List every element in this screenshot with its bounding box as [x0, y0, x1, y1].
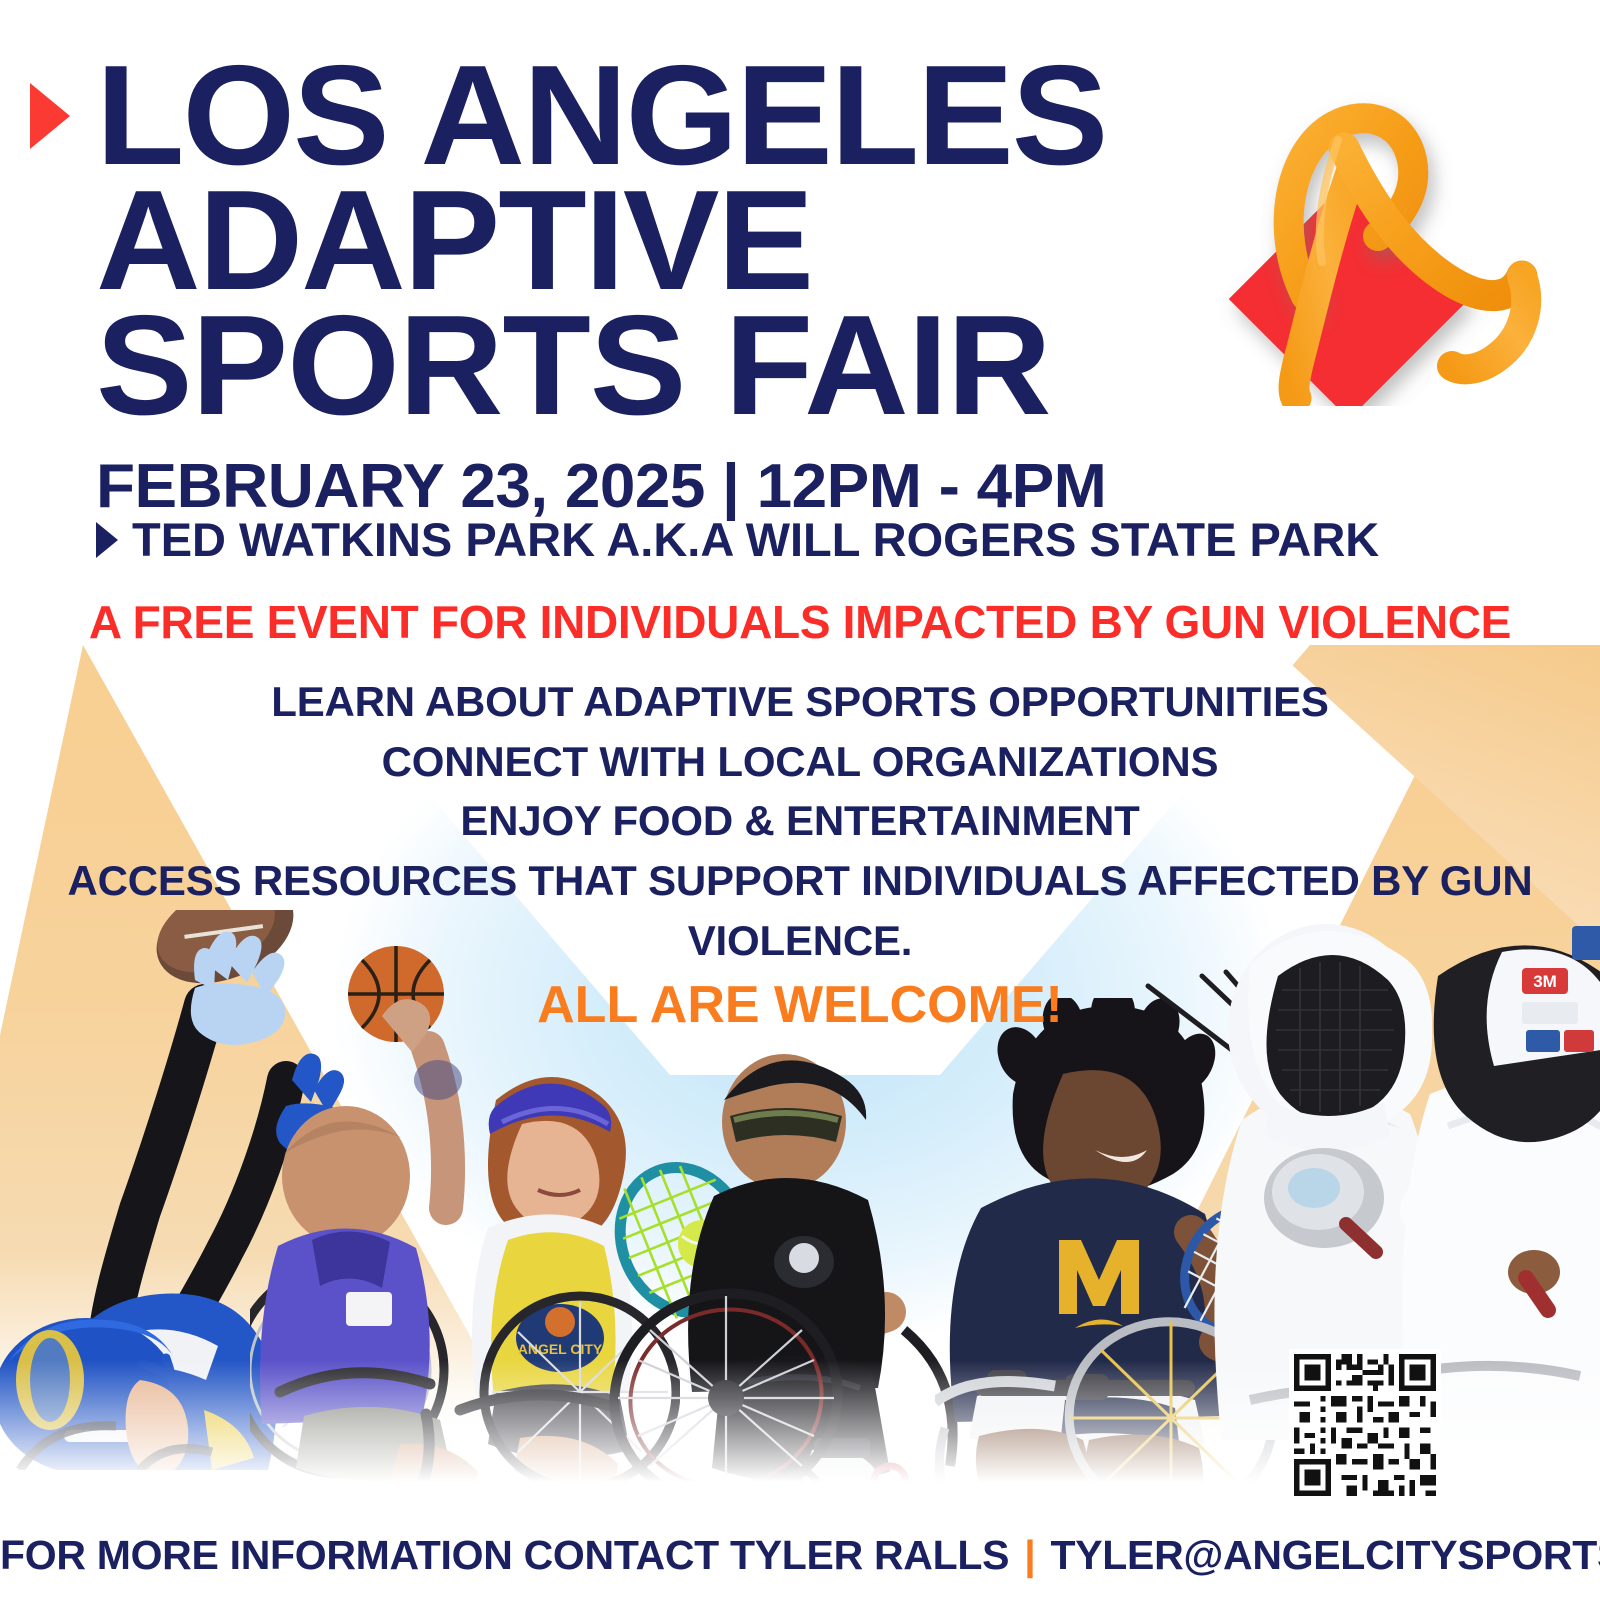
title-line-3: SPORTS FAIR: [96, 304, 1198, 429]
footer-email[interactable]: TYLER@ANGELCITYSPORTS.ORG: [1050, 1532, 1600, 1578]
benefit-item-3: ENJOY FOOD & ENTERTAINMENT: [60, 791, 1540, 851]
qr-code-icon[interactable]: [1289, 1349, 1441, 1501]
welcome-callout: ALL ARE WELCOME!: [0, 975, 1600, 1035]
event-location-row: TED WATKINS PARK A.K.A WILL ROGERS STATE…: [96, 516, 1379, 563]
benefit-item-4: ACCESS RESOURCES THAT SUPPORT INDIVIDUAL…: [60, 851, 1540, 911]
event-tagline: A FREE EVENT FOR INDIVIDUALS IMPACTED BY…: [0, 595, 1600, 649]
poster-canvas: ANGEL CITY: [0, 0, 1600, 1600]
play-triangle-icon-navy: [96, 522, 118, 558]
event-datetime: FEBRUARY 23, 2025 | 12PM - 4PM: [96, 456, 1106, 518]
benefit-item-2: CONNECT WITH LOCAL ORGANIZATIONS: [60, 732, 1540, 792]
benefit-item-5: VIOLENCE.: [60, 911, 1540, 971]
footer-contact-text: FOR MORE INFORMATION CONTACT TYLER RALLS: [0, 1532, 1009, 1578]
event-location: TED WATKINS PARK A.K.A WILL ROGERS STATE…: [132, 516, 1379, 563]
benefit-item-1: LEARN ABOUT ADAPTIVE SPORTS OPPORTUNITIE…: [60, 672, 1540, 732]
play-triangle-icon-red: [30, 83, 70, 149]
footer-contact: FOR MORE INFORMATION CONTACT TYLER RALLS…: [0, 1532, 1600, 1579]
footer-separator: |: [1020, 1532, 1039, 1578]
event-benefits-list: LEARN ABOUT ADAPTIVE SPORTS OPPORTUNITIE…: [60, 672, 1540, 970]
orange-ribbon-logo: [1156, 86, 1556, 406]
page-title: LOS ANGELES ADAPTIVE SPORTS FAIR: [96, 54, 1176, 429]
